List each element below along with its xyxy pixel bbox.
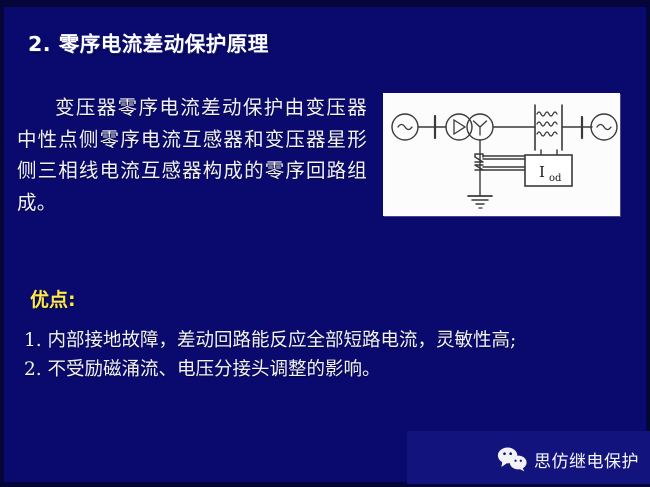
frame-edge-left — [0, 0, 4, 487]
wechat-icon — [497, 446, 527, 472]
slide-title: 2. 零序电流差动保护原理 — [28, 27, 269, 57]
delta-winding-icon — [446, 114, 472, 140]
slide-canvas: 2. 零序电流差动保护原理 变压器零序电流差动保护由变压器中性点侧零序电流互感器… — [0, 0, 650, 487]
list-item: 2. 不受励磁涌流、电压分接头调整的影响。 — [24, 355, 636, 384]
advantages-heading: 优点: — [30, 285, 76, 312]
circuit-diagram-panel: I od — [383, 93, 620, 216]
frame-edge-right — [646, 0, 650, 487]
relay-label-main: I — [539, 163, 545, 181]
three-phase-ct-icon — [535, 105, 562, 150]
circuit-diagram-svg: I od — [383, 93, 620, 216]
earth-ground-icon — [468, 196, 492, 208]
relay-label-subscript: od — [549, 173, 562, 184]
watermark: 思仿继电保护 — [497, 446, 639, 472]
watermark-text: 思仿继电保护 — [534, 447, 639, 472]
generator-right-wave-icon — [597, 125, 611, 130]
generator-left-wave-icon — [398, 125, 412, 130]
neutral-current-transformer-icon — [475, 154, 483, 162]
body-paragraph: 变压器零序电流差动保护由变压器中性点侧零序电流互感器和变压器星形侧三相线电流互感… — [17, 92, 367, 218]
frame-edge-top — [0, 0, 650, 7]
advantages-list: 1. 内部接地故障，差动回路能反应全部短路电流，灵敏性高; 2. 不受励磁涌流、… — [24, 326, 636, 384]
list-item: 1. 内部接地故障，差动回路能反应全部短路电流，灵敏性高; — [24, 326, 636, 355]
